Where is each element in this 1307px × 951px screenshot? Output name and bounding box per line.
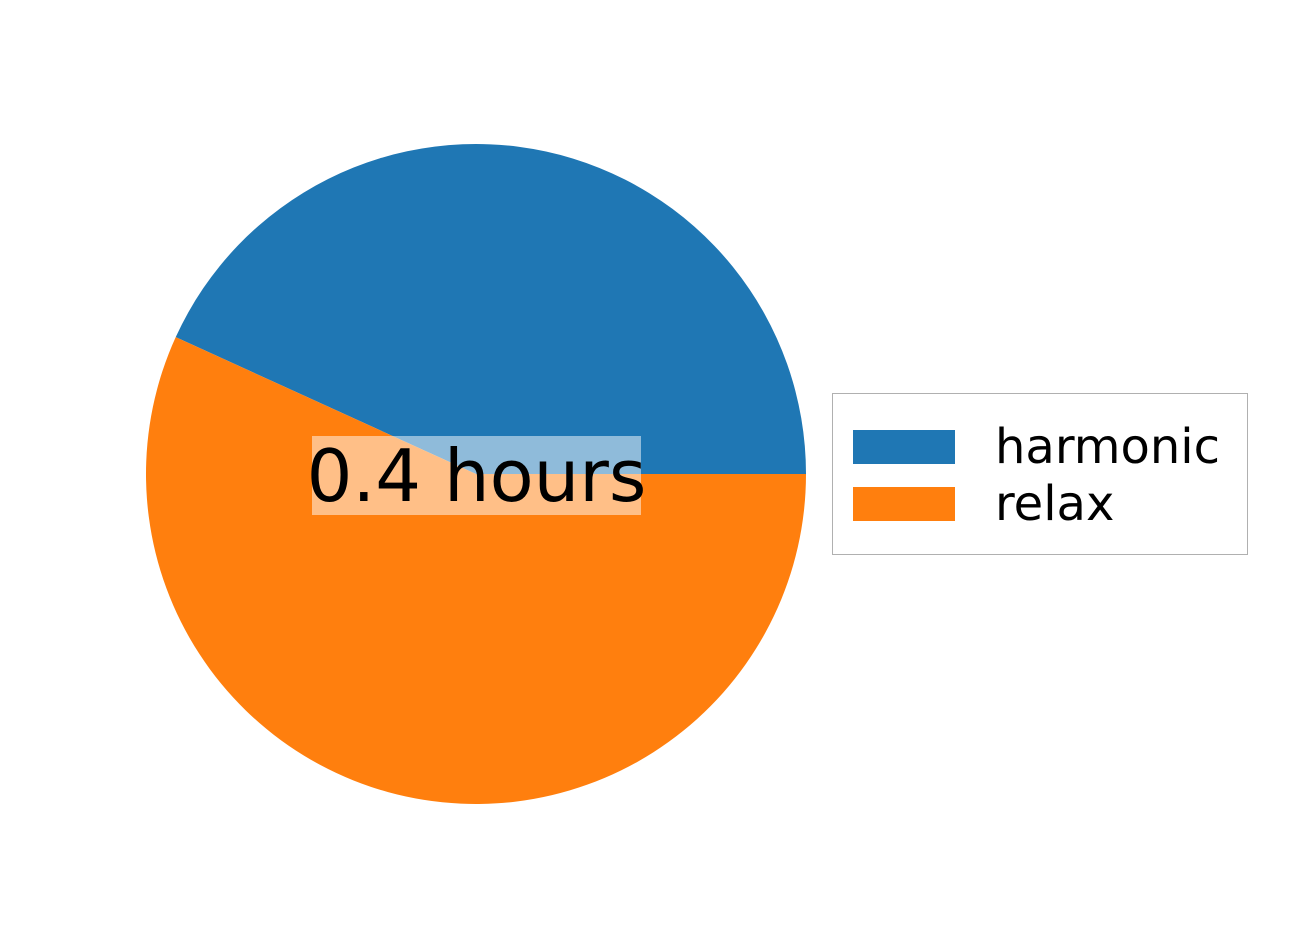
pie-chart-figure: 0.4 hours harmonic relax — [0, 0, 1307, 951]
legend-label-relax: relax — [995, 480, 1114, 528]
chart-legend: harmonic relax — [832, 393, 1248, 555]
legend-item-relax[interactable]: relax — [853, 475, 1247, 532]
center-value-label: 0.4 hours — [312, 436, 641, 515]
legend-item-harmonic[interactable]: harmonic — [853, 418, 1247, 475]
legend-swatch-harmonic — [853, 430, 955, 464]
legend-label-harmonic: harmonic — [995, 423, 1220, 471]
legend-swatch-relax — [853, 487, 955, 521]
